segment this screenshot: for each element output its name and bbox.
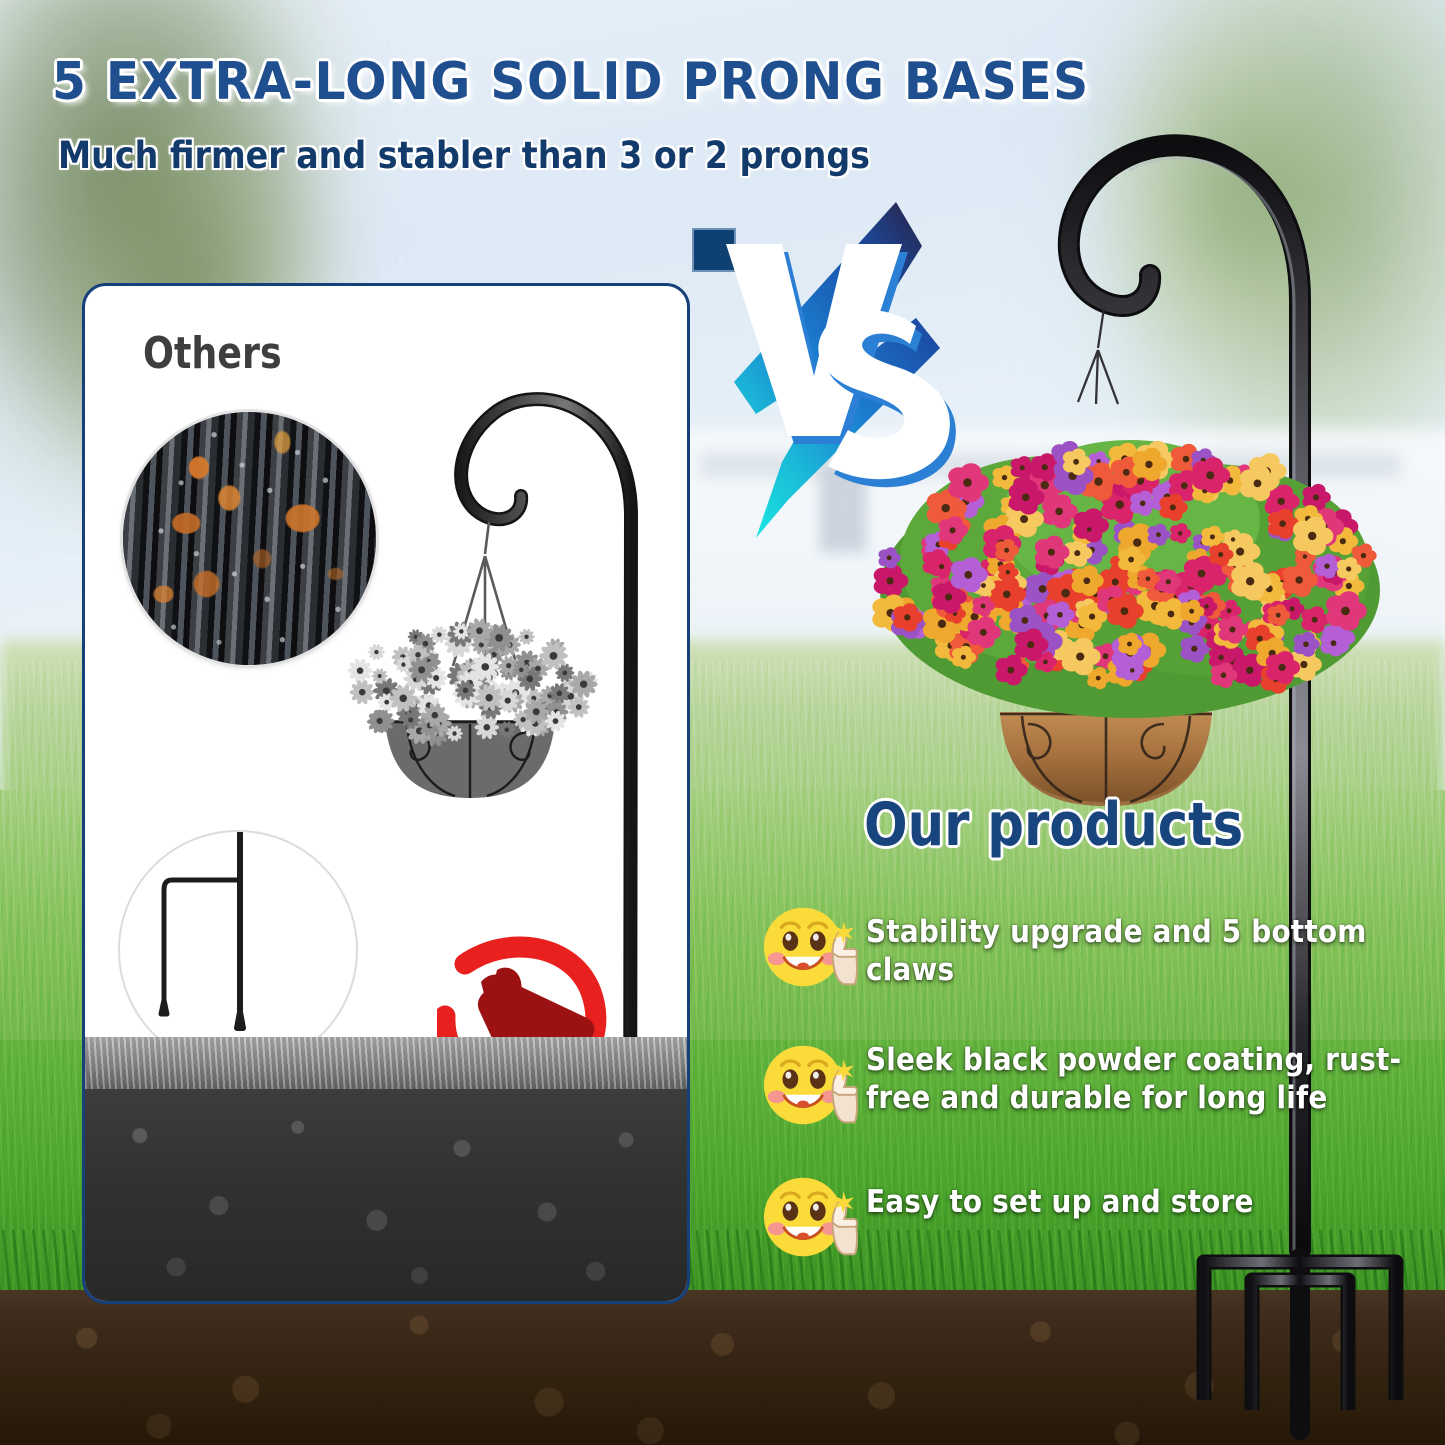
two-prong-stake-inset bbox=[118, 830, 358, 1070]
page-subheadline: Much firmer and stabler than 3 or 2 pron… bbox=[58, 134, 870, 177]
feature-list: Stability upgrade and 5 bottom claws bbox=[760, 898, 1420, 1266]
smiley-thumbs-up-icon bbox=[760, 1168, 858, 1266]
feature-item: Easy to set up and store bbox=[760, 1168, 1420, 1266]
our-products-title: Our products bbox=[864, 790, 1243, 860]
smiley-thumbs-up-icon bbox=[760, 898, 858, 996]
page-headline: 5 EXTRA-LONG SOLID PRONG BASES bbox=[52, 52, 1090, 112]
blurred-tree-right-secondary bbox=[1105, 30, 1365, 360]
others-grass-band bbox=[85, 1037, 690, 1089]
soil-texture bbox=[0, 1290, 1445, 1445]
feature-text: Easy to set up and store bbox=[866, 1168, 1254, 1222]
feature-text: Sleek black powder coating, rust-free an… bbox=[866, 1036, 1420, 1118]
vs-badge bbox=[690, 200, 980, 540]
others-soil-band bbox=[85, 1089, 690, 1301]
others-comparison-panel: Others bbox=[82, 283, 690, 1304]
two-prong-stake-diagram bbox=[120, 832, 356, 1068]
feature-text: Stability upgrade and 5 bottom claws bbox=[866, 898, 1420, 990]
smiley-thumbs-up-icon bbox=[760, 1036, 858, 1134]
feature-item: Sleek black powder coating, rust-free an… bbox=[760, 1036, 1420, 1134]
feature-item: Stability upgrade and 5 bottom claws bbox=[760, 898, 1420, 996]
